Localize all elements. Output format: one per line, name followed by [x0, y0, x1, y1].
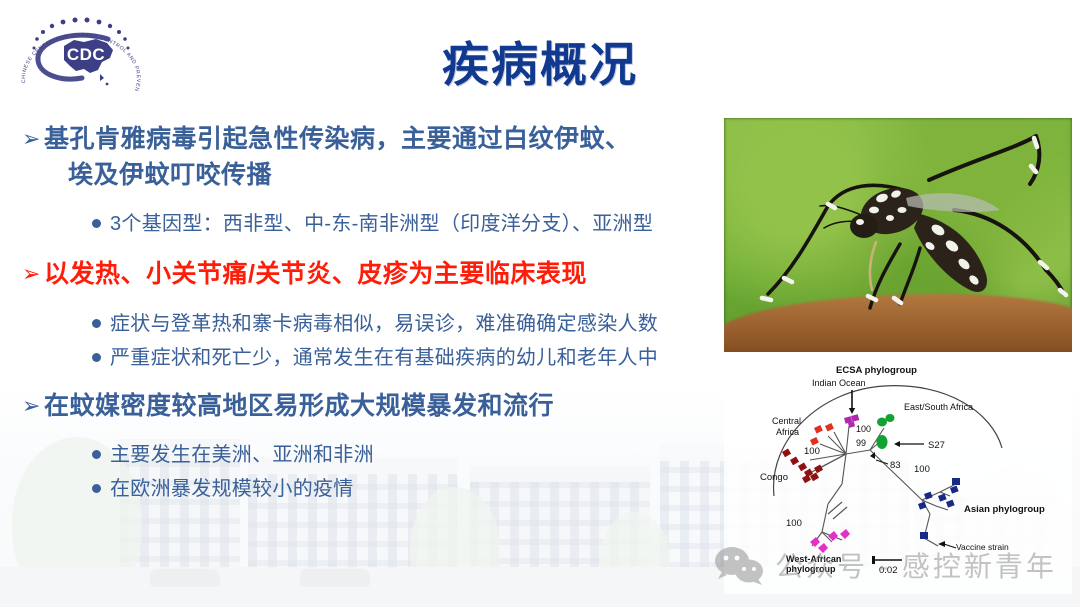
tree-label-s27: S27	[928, 440, 945, 451]
tree-label-congo: Congo	[760, 472, 788, 483]
tree-label-ecsa: ECSA phylogroup	[836, 365, 917, 376]
tree-bootstrap-root: 83	[890, 460, 901, 471]
arrow-bullet-icon: ➢	[22, 122, 41, 156]
bullet-text: 症状与登革热和寨卡病毒相似，易误诊，难准确确定感染人数	[110, 309, 658, 339]
presentation-slide: CHINESE CENTER FOR DISEASE CONTROL AND P…	[0, 0, 1080, 607]
tree-bootstrap-west-african: 100	[786, 518, 802, 529]
bullet-level2-misdiagnosis: 症状与登革热和寨卡病毒相似，易误诊，难准确确定感染人数	[92, 309, 712, 339]
bullet-level2-europe: 在欧洲暴发规模较小的疫情	[92, 474, 712, 504]
bullet-level2-severity: 严重症状和死亡少，通常发生在有基础疾病的幼儿和老年人中	[92, 343, 712, 373]
tree-bootstrap-east-south-africa: 99	[856, 438, 866, 448]
round-bullet-icon	[92, 319, 101, 328]
bullet-text: 3个基因型：西非型、中-东-南非洲型（印度洋分支）、亚洲型	[110, 209, 653, 239]
arrow-bullet-icon: ➢	[22, 257, 41, 291]
wechat-icon	[712, 545, 766, 585]
wechat-watermark: 公众号 - 感控新青年	[712, 545, 1057, 585]
mosquito-illustration	[724, 118, 1072, 352]
bullet-text: 在欧洲暴发规模较小的疫情	[110, 474, 354, 504]
bullet-level1-transmission: ➢ 基孔肯雅病毒引起急性传染病，主要通过白纹伊蚊、 埃及伊蚊叮咬传播	[22, 122, 712, 193]
bullet-list: ➢ 基孔肯雅病毒引起急性传染病，主要通过白纹伊蚊、 埃及伊蚊叮咬传播 3个基因型…	[22, 122, 712, 508]
tree-bootstrap-congo: 100	[804, 446, 820, 457]
bullet-text-line1: 以发热、小关节痛/关节炎、皮疹为主要临床表现	[44, 260, 587, 288]
round-bullet-icon	[92, 219, 101, 228]
background-car	[300, 569, 370, 587]
tree-label-indian-ocean: Indian Ocean	[812, 378, 866, 388]
bullet-text-line1: 基孔肯雅病毒引起急性传染病，主要通过白纹伊蚊、	[44, 125, 631, 153]
round-bullet-icon	[92, 353, 101, 362]
aedes-mosquito-photo	[724, 118, 1072, 352]
background-car	[150, 569, 220, 587]
bullet-level1-outbreak: ➢ 在蚊媒密度较高地区易形成大规模暴发和流行	[22, 389, 712, 425]
bullet-text-line1: 在蚊媒密度较高地区易形成大规模暴发和流行	[44, 392, 554, 420]
round-bullet-icon	[92, 484, 101, 493]
tree-label-east-south-africa: East/South Africa	[904, 402, 973, 412]
tree-bootstrap-asian: 100	[914, 464, 930, 475]
bullet-text: 严重症状和死亡少，通常发生在有基础疾病的幼儿和老年人中	[110, 343, 658, 373]
round-bullet-icon	[92, 450, 101, 459]
tree-label-central-africa-1: Central	[772, 416, 801, 426]
bullet-text: 主要发生在美洲、亚洲和非洲	[110, 440, 374, 470]
tree-label-central-africa-2: Africa	[776, 427, 799, 437]
bullet-level2-genotypes: 3个基因型：西非型、中-东-南非洲型（印度洋分支）、亚洲型	[92, 209, 712, 239]
bullet-level2-regions: 主要发生在美洲、亚洲和非洲	[92, 440, 712, 470]
tree-bootstrap-indian-ocean: 100	[856, 424, 871, 434]
slide-title: 疾病概况	[0, 26, 1080, 95]
bullet-text-line2: 埃及伊蚊叮咬传播	[44, 158, 712, 194]
bullet-level1-clinical: ➢ 以发热、小关节痛/关节炎、皮疹为主要临床表现	[22, 257, 712, 293]
watermark-text: 公众号 - 感控新青年	[775, 545, 1057, 585]
tree-label-asian: Asian phylogroup	[964, 504, 1045, 515]
arrow-bullet-icon: ➢	[22, 389, 41, 423]
